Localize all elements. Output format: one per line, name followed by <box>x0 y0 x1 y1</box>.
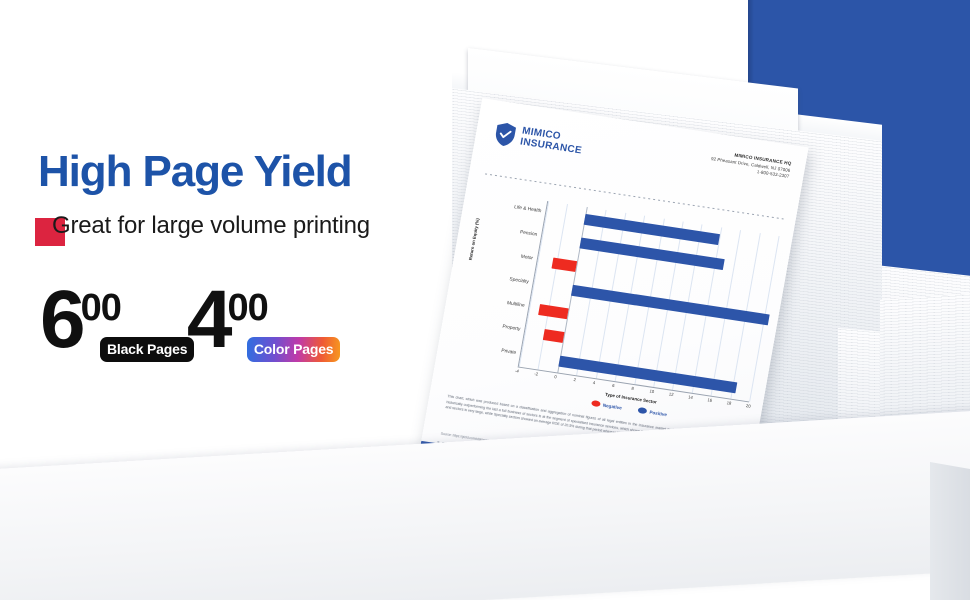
chart-legend-item: Negative <box>591 400 623 411</box>
chart-category-label: Private <box>501 349 517 356</box>
stat-block-1: 600Black Pages <box>40 285 121 356</box>
chart-category-label: Motor <box>520 255 533 262</box>
chart-x-tick-label: 8 <box>631 386 634 391</box>
stat-block-2: 400Color Pages <box>187 285 268 356</box>
chart-x-tick-label: 14 <box>688 394 693 400</box>
stat-badge: Black Pages <box>100 337 194 362</box>
chart-x-tick-label: 6 <box>612 383 615 388</box>
chart-legend-item: Positive <box>637 407 667 417</box>
foreground-white-block-edge <box>930 462 970 600</box>
marketing-copy: High Page Yield Great for large volume p… <box>38 150 438 246</box>
roe-bar-chart: Return on Equity (%) Life & HealthPensio… <box>447 187 782 434</box>
chart-category-label: Specialty <box>509 277 529 285</box>
stat-badge: Color Pages <box>247 337 341 362</box>
stat-superscript: 00 <box>228 287 268 330</box>
chart-bar <box>543 329 564 343</box>
chart-category-label: Multiline <box>507 301 525 309</box>
chart-legend-label: Negative <box>603 402 623 410</box>
stat-number: 6 <box>40 285 83 356</box>
chart-x-tick-label: 10 <box>649 388 654 394</box>
chart-category-label: Property <box>502 325 521 333</box>
chart-x-tick-label: -2 <box>534 371 539 376</box>
chart-x-tick-label: 12 <box>668 391 673 397</box>
chart-x-tick-label: 2 <box>573 377 576 382</box>
stat-number: 4 <box>187 285 230 356</box>
page-yield-stats: 600Black Pages400Color Pages <box>40 285 268 356</box>
chart-legend-swatch <box>591 400 601 407</box>
chart-legend-swatch <box>637 407 647 414</box>
chart-x-tick-label: 0 <box>554 374 557 379</box>
promo-banner: MIMICO INSURANCE MIMICO INSURANCE HQ 92 … <box>0 0 970 600</box>
chart-x-tick-label: 4 <box>592 380 595 385</box>
chart-category-label: Life & Health <box>514 205 542 214</box>
page-title: High Page Yield <box>38 150 438 194</box>
chart-category-label: Pension <box>519 230 537 238</box>
chart-x-tick-label: 16 <box>707 397 712 403</box>
company-logo: MIMICO INSURANCE <box>492 121 585 159</box>
page-subtitle: Great for large volume printing <box>52 212 370 240</box>
chart-x-tick-label: 20 <box>746 403 751 409</box>
chart-bar <box>538 304 569 319</box>
chart-bar <box>584 213 720 244</box>
chart-x-tick-label: -4 <box>515 368 520 373</box>
hq-address-block: MIMICO INSURANCE HQ 92 Pheasant Drive, C… <box>710 149 792 179</box>
chart-legend-label: Positive <box>649 409 667 417</box>
shield-check-icon <box>492 121 518 149</box>
chart-x-tick-label: 18 <box>726 400 731 406</box>
stat-superscript: 00 <box>81 287 121 330</box>
